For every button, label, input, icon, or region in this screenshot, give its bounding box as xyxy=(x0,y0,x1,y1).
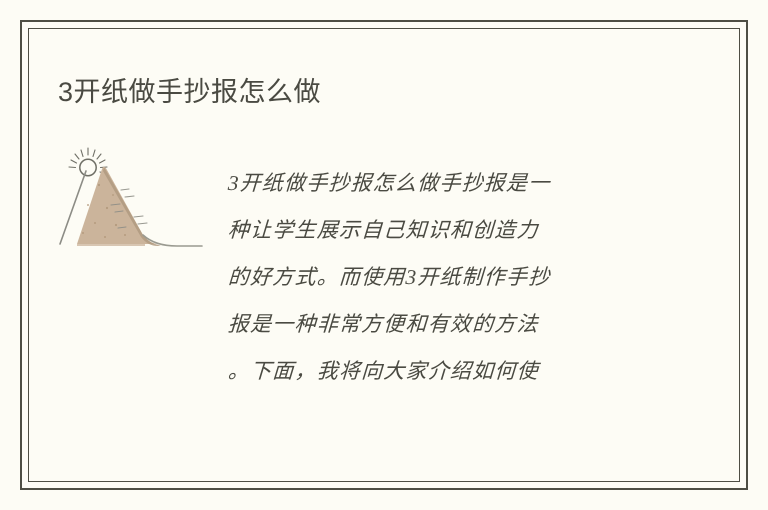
article-body: 3开纸做手抄报怎么做手抄报是一 种让学生展示自己知识和创造力 的好方式。而使用3… xyxy=(228,160,670,395)
sun-disc-icon xyxy=(80,159,96,175)
article-page: 3开纸做手抄报怎么做 xyxy=(0,0,768,510)
dune-body-icon xyxy=(77,167,159,244)
body-line: 。下面，我将向大家介绍如何使 xyxy=(227,348,671,395)
sun-rays-icon xyxy=(69,148,107,174)
body-line: 3开纸做手抄报怎么做手抄报是一 xyxy=(227,160,671,207)
sand-dune-with-sun-icon xyxy=(55,145,207,261)
page-content: 3开纸做手抄报怎么做 xyxy=(0,0,768,510)
body-line: 种让学生展示自己知识和创造力 xyxy=(227,207,671,254)
page-title: 3开纸做手抄报怎么做 xyxy=(58,70,321,109)
body-line: 报是一种非常方便和有效的方法 xyxy=(227,301,671,348)
body-line: 的好方式。而使用3开纸制作手抄 xyxy=(227,254,671,301)
